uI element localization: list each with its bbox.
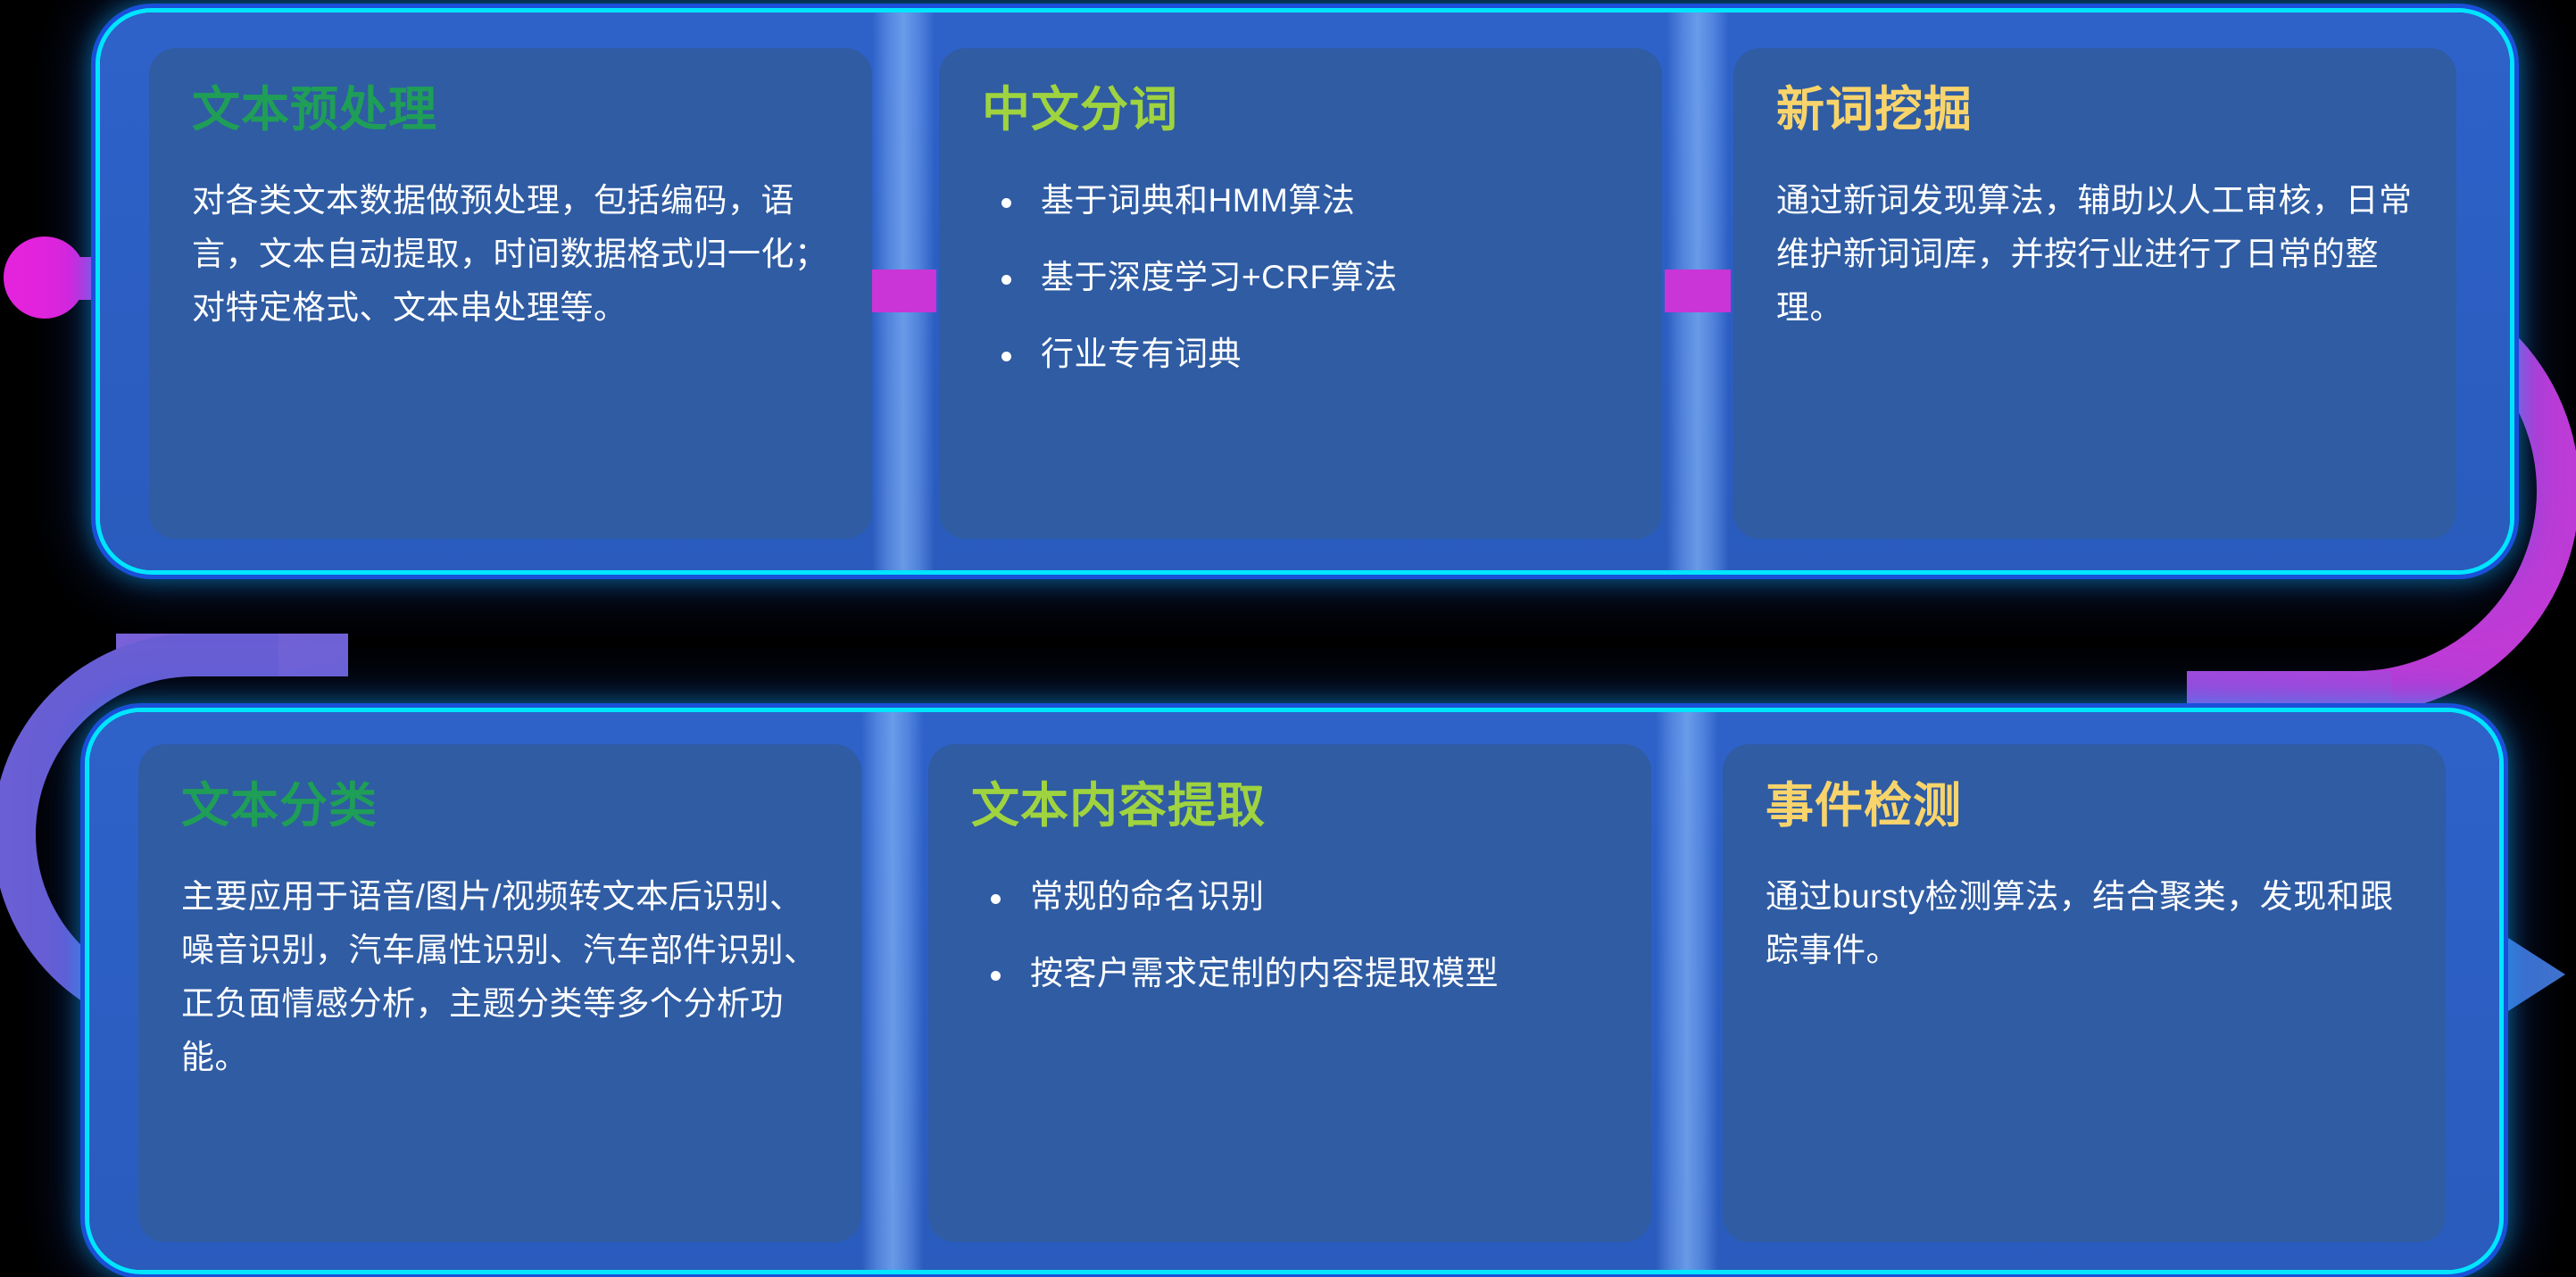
card-link-block	[870, 269, 936, 312]
row-divider	[861, 712, 924, 1270]
card-title: 新词挖掘	[1776, 84, 2415, 137]
card-title: 文本分类	[181, 780, 820, 833]
card-link-block	[1665, 269, 1731, 312]
card-bullet-list: 基于词典和HMM算法 基于深度学习+CRF算法 行业专有词典	[982, 174, 1621, 381]
card-title: 文本预处理	[192, 84, 831, 137]
card-text-preprocessing[interactable]: 文本预处理 对各类文本数据做预处理，包括编码，语言，文本自动提取，时间数据格式归…	[149, 48, 872, 539]
card-text-classification[interactable]: 文本分类 主要应用于语音/图片/视频转文本后识别、噪音识别，汽车属性识别、汽车部…	[138, 744, 861, 1242]
card-title: 中文分词	[982, 84, 1621, 137]
card-bullet-list: 常规的命名识别 按客户需求定制的内容提取模型	[971, 870, 1610, 1000]
process-row-top: 文本预处理 对各类文本数据做预处理，包括编码，语言，文本自动提取，时间数据格式归…	[100, 12, 2510, 570]
card-paragraph: 主要应用于语音/图片/视频转文本后识别、噪音识别，汽车属性识别、汽车部件识别、正…	[181, 870, 820, 1084]
card-paragraph: 通过新词发现算法，辅助以人工审核，日常维护新词词库，并按行业进行了日常的整理。	[1776, 174, 2415, 335]
process-row-bottom: 文本分类 主要应用于语音/图片/视频转文本后识别、噪音识别，汽车属性识别、汽车部…	[89, 712, 2499, 1270]
card-paragraph: 通过bursty检测算法，结合聚类，发现和跟踪事件。	[1766, 870, 2405, 977]
card-text-content-extraction[interactable]: 文本内容提取 常规的命名识别 按客户需求定制的内容提取模型	[928, 744, 1651, 1242]
card-chinese-word-segmentation[interactable]: 中文分词 基于词典和HMM算法 基于深度学习+CRF算法 行业专有词典	[939, 48, 1662, 539]
list-item: 基于深度学习+CRF算法	[982, 251, 1621, 304]
card-new-word-discovery[interactable]: 新词挖掘 通过新词发现算法，辅助以人工审核，日常维护新词词库，并按行业进行了日常…	[1733, 48, 2456, 539]
flow-end-arrow-icon	[2496, 930, 2565, 1019]
list-item: 行业专有词典	[982, 328, 1621, 381]
list-item: 基于词典和HMM算法	[982, 174, 1621, 228]
card-title: 事件检测	[1766, 780, 2405, 833]
card-event-detection[interactable]: 事件检测 通过bursty检测算法，结合聚类，发现和跟踪事件。	[1723, 744, 2446, 1242]
row-divider	[1656, 712, 1718, 1270]
list-item: 按客户需求定制的内容提取模型	[971, 947, 1610, 1000]
card-paragraph: 对各类文本数据做预处理，包括编码，语言，文本自动提取，时间数据格式归一化；对特定…	[192, 174, 831, 335]
diagram-stage: 文本预处理 对各类文本数据做预处理，包括编码，语言，文本自动提取，时间数据格式归…	[0, 0, 2576, 1277]
card-title: 文本内容提取	[971, 780, 1610, 833]
right-u-turn-outlet	[2187, 671, 2392, 714]
list-item: 常规的命名识别	[971, 870, 1610, 924]
